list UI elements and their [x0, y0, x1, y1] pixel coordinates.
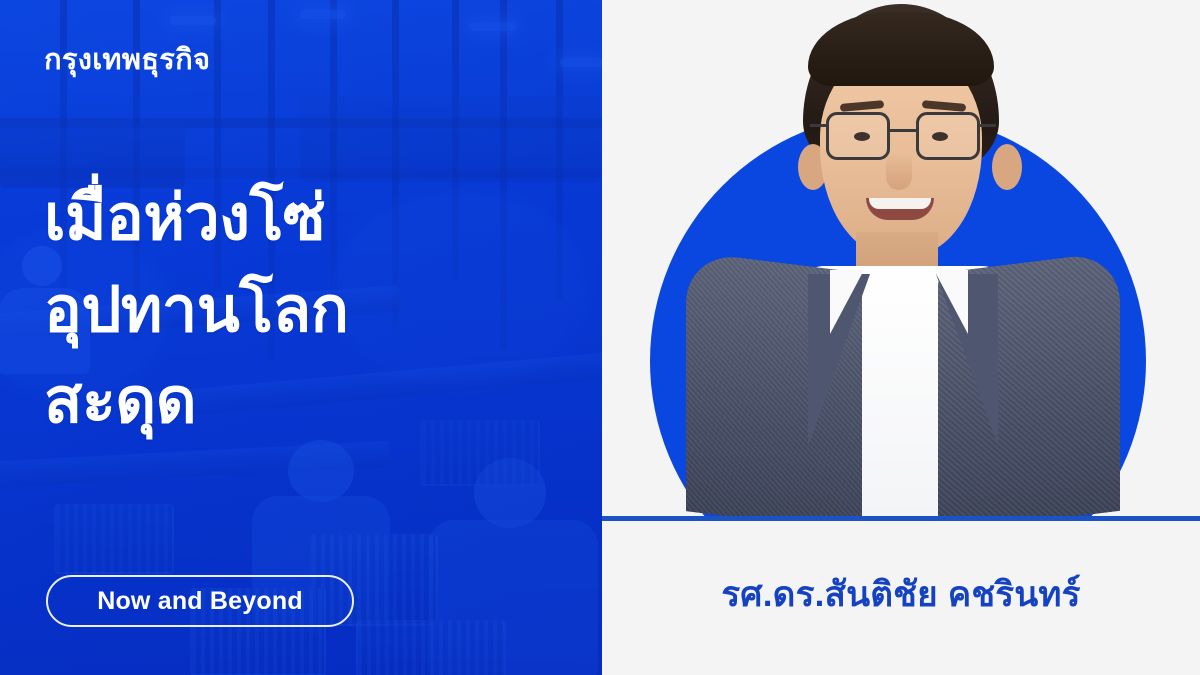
portrait-collar — [830, 270, 864, 334]
portrait-teeth — [869, 198, 931, 209]
headline: เมื่อห่วงโซ่ อุปทานโลก สะดุด — [44, 173, 562, 447]
caption-bar: รศ.ดร.สันติชัย คชรินทร์ — [602, 521, 1200, 675]
headline-line-3: สะดุด — [44, 356, 562, 447]
glasses-lens — [916, 112, 980, 160]
glasses-lens — [826, 112, 890, 160]
speaker-name: รศ.ดร.สันติชัย คชรินทร์ — [721, 567, 1080, 622]
portrait-nose — [886, 152, 912, 190]
portrait-collar — [934, 270, 968, 334]
headline-line-2: อุปทานโลก — [44, 265, 562, 356]
right-portrait-panel: รศ.ดร.สันติชัย คชรินทร์ — [602, 0, 1200, 675]
portrait-ear — [992, 144, 1022, 190]
glasses-temple — [810, 124, 826, 127]
glasses-bridge — [890, 129, 918, 132]
brand-logo-text[interactable]: กรุงเทพธุรกิจ — [44, 44, 562, 77]
left-blue-panel: กรุงเทพธุรกิจ เมื่อห่วงโซ่ อุปทานโลก สะด… — [0, 0, 602, 675]
portrait-fringe — [808, 12, 994, 86]
portrait-stage — [602, 0, 1200, 520]
article-cover-card: กรุงเทพธุรกิจ เมื่อห่วงโซ่ อุปทานโลก สะด… — [0, 0, 1200, 675]
now-and-beyond-badge[interactable]: Now and Beyond — [46, 575, 354, 627]
glasses-temple — [980, 124, 996, 127]
speaker-portrait-image — [680, 0, 1120, 520]
left-content: กรุงเทพธุรกิจ เมื่อห่วงโซ่ อุปทานโลก สะด… — [0, 0, 602, 675]
headline-line-1: เมื่อห่วงโซ่ — [44, 173, 562, 264]
